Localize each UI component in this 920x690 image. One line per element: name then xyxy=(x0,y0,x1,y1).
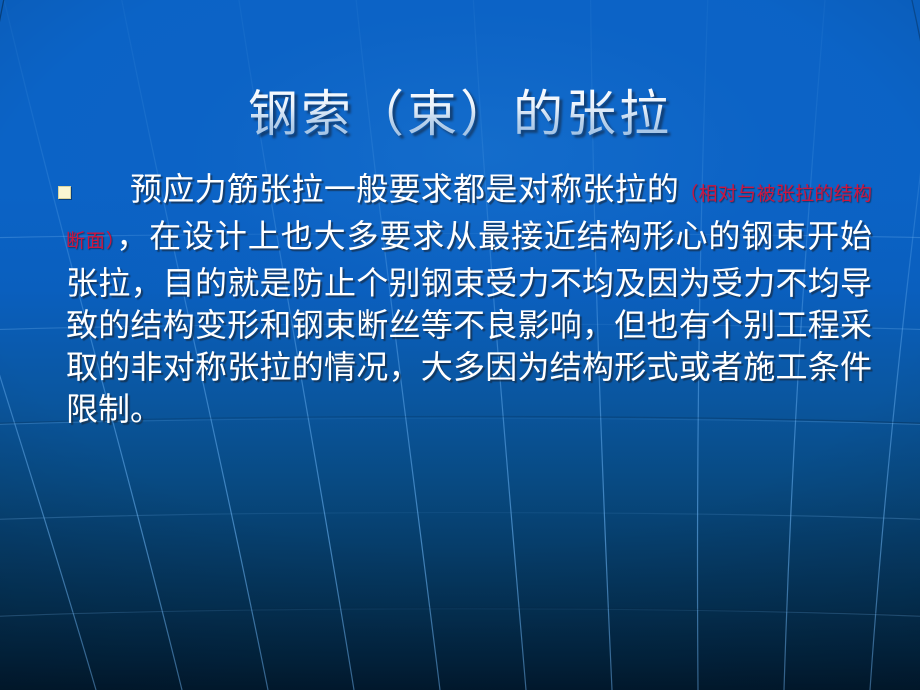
slide-body: 预应力筋张拉一般要求都是对称张拉的（相对与被张拉的结构断面），在设计上也大多要求… xyxy=(54,168,872,430)
body-segment-1: 预应力筋张拉一般要求都是对称张拉的 xyxy=(130,170,679,208)
square-bullet-icon xyxy=(58,186,71,199)
slide-title: 钢索（束）的张拉 xyxy=(0,82,920,146)
body-segment-2: ，在设计上也大多要求从最接近结构形心的钢束开始张拉，目的就是防止个别钢束受力不均… xyxy=(66,217,872,428)
body-paragraph: 预应力筋张拉一般要求都是对称张拉的（相对与被张拉的结构断面），在设计上也大多要求… xyxy=(54,168,872,430)
slide-canvas: 钢索（束）的张拉 钢索（束）的张拉 预应力筋张拉一般要求都是对称张拉的（相对与被… xyxy=(0,0,920,690)
